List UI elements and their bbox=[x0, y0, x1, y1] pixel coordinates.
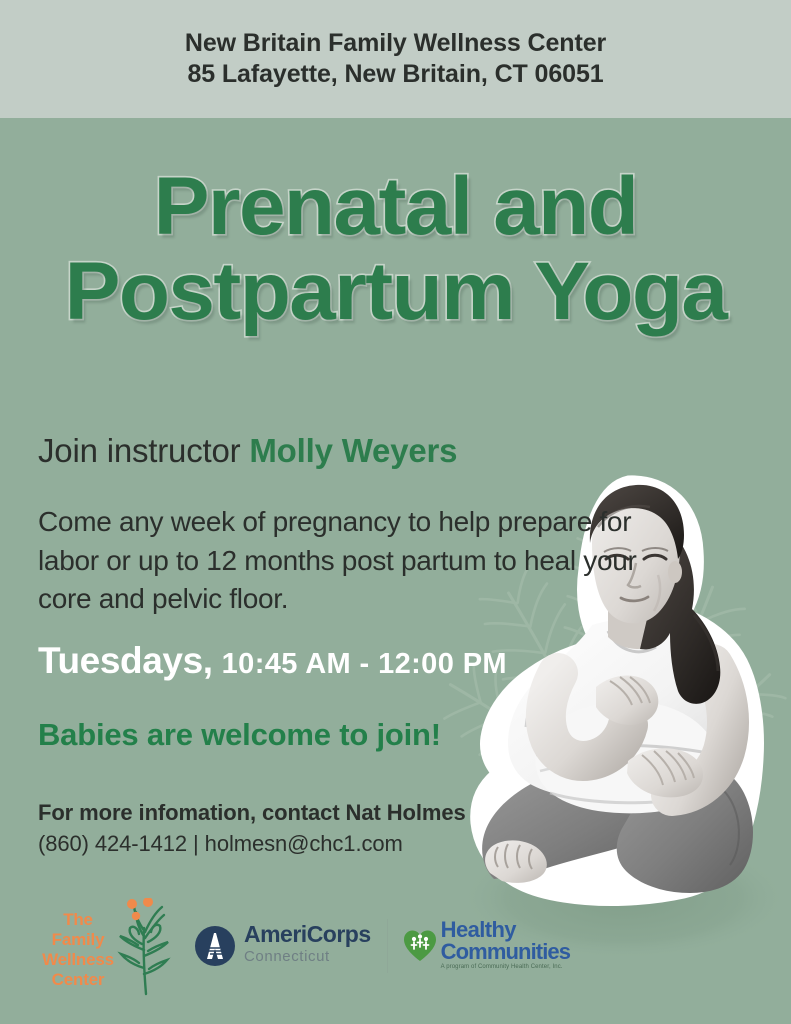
babies-welcome-note: Babies are welcome to join! bbox=[38, 717, 441, 753]
healthy-communities-logo: Healthy Communities A program of Communi… bbox=[402, 919, 570, 971]
hc-line-1: Healthy bbox=[441, 919, 570, 941]
fern-watermark-icon bbox=[430, 370, 791, 870]
healthy-communities-wordmark: Healthy Communities A program of Communi… bbox=[441, 919, 570, 971]
americorps-wordmark: AmeriCorps Connecticut bbox=[244, 923, 371, 969]
instructor-line: Join instructor Molly Weyers bbox=[38, 432, 457, 470]
header-band: New Britain Family Wellness Center 85 La… bbox=[0, 0, 791, 118]
fwc-line-3: Wellness bbox=[32, 950, 124, 970]
schedule-day: Tuesdays, bbox=[38, 640, 213, 681]
americorps-logo: AmeriCorps Connecticut bbox=[194, 923, 371, 969]
instructor-name: Molly Weyers bbox=[249, 432, 457, 469]
contact-block: For more infomation, contact Nat Holmes … bbox=[38, 800, 466, 857]
americorps-mark-icon bbox=[194, 925, 236, 967]
description-text: Come any week of pregnancy to help prepa… bbox=[38, 503, 658, 619]
instructor-prefix: Join instructor bbox=[38, 432, 240, 469]
logo-divider bbox=[387, 919, 388, 973]
page-title: Prenatal and Postpartum Yoga bbox=[0, 168, 791, 331]
hc-line-2: Communities bbox=[441, 941, 570, 963]
schedule-line: Tuesdays,10:45 AM - 12:00 PM bbox=[38, 640, 507, 682]
schedule-time: 10:45 AM - 12:00 PM bbox=[222, 648, 507, 680]
flower-plant-icon bbox=[112, 898, 174, 996]
logo-row: The Family Wellness Center bbox=[26, 893, 466, 998]
fwc-line-1: The bbox=[32, 910, 124, 930]
hc-tagline: A program of Community Health Center, In… bbox=[441, 963, 570, 971]
contact-details-line: (860) 424-1412 | holmesn@chc1.com bbox=[38, 831, 466, 857]
fwc-line-4: Center bbox=[32, 970, 124, 990]
flyer-page: New Britain Family Wellness Center 85 La… bbox=[0, 0, 791, 1024]
title-line-2: Postpartum Yoga bbox=[0, 253, 791, 332]
title-line-1: Prenatal and bbox=[0, 168, 791, 247]
fwc-line-2: Family bbox=[32, 930, 124, 950]
org-address: 85 Lafayette, New Britain, CT 06051 bbox=[187, 59, 603, 91]
americorps-state: Connecticut bbox=[244, 946, 371, 969]
family-wellness-center-wordmark: The Family Wellness Center bbox=[32, 910, 124, 990]
americorps-name: AmeriCorps bbox=[244, 923, 371, 946]
org-name: New Britain Family Wellness Center bbox=[185, 28, 606, 60]
heart-icon bbox=[402, 928, 438, 964]
family-wellness-center-logo: The Family Wellness Center bbox=[26, 896, 176, 996]
contact-name-line: For more infomation, contact Nat Holmes bbox=[38, 800, 466, 826]
